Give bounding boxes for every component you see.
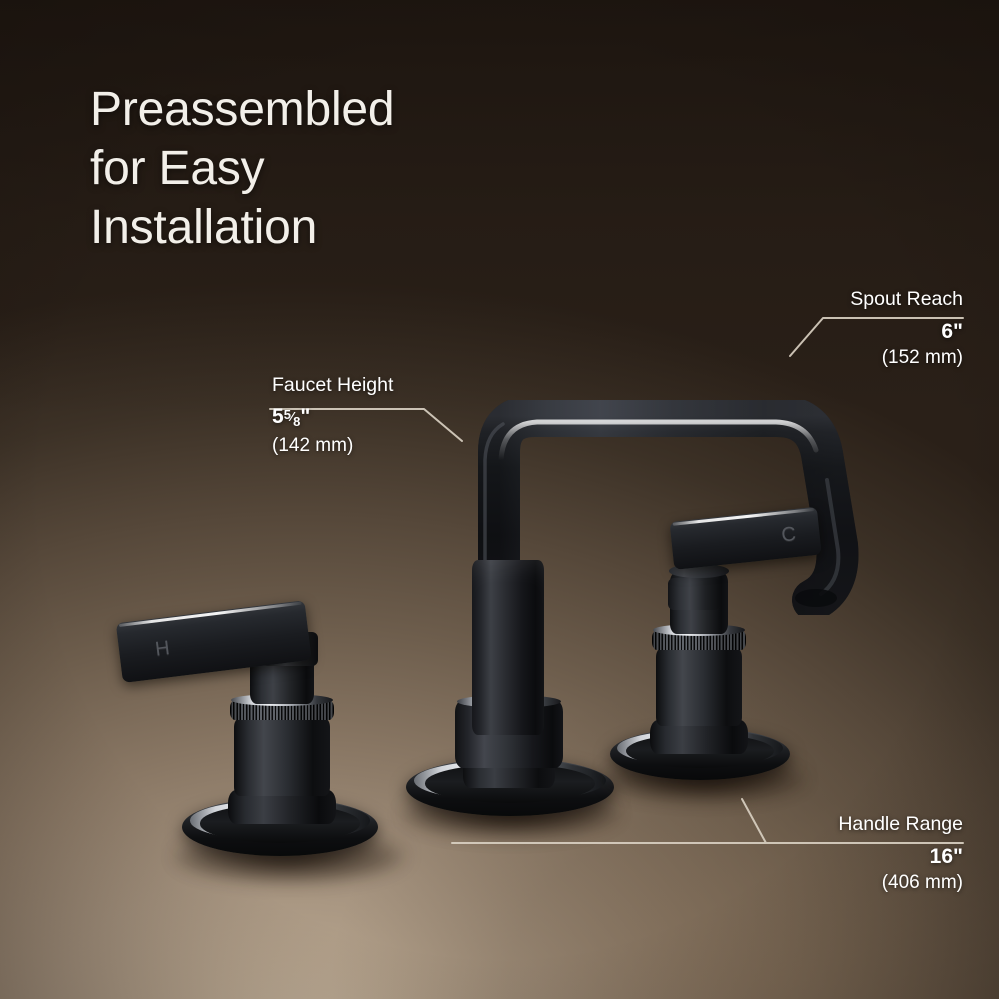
left-valve-tube bbox=[234, 718, 329, 796]
callout-handle-range-value: 16" bbox=[733, 844, 963, 869]
faucet-height-unit: " bbox=[300, 405, 310, 428]
callout-handle-range: Handle Range 16" (406 mm) bbox=[733, 813, 963, 895]
cold-indicator-label: C bbox=[780, 524, 796, 545]
faucet-height-denominator: 8 bbox=[293, 414, 300, 429]
callout-faucet-height: Faucet Height 55⁄8" (142 mm) bbox=[272, 374, 393, 458]
callout-spout-reach-label: Spout Reach bbox=[743, 288, 963, 311]
callout-faucet-height-value: 55⁄8" bbox=[272, 404, 393, 431]
callout-spout-reach-metric: (152 mm) bbox=[743, 346, 963, 370]
right-handle-hub bbox=[668, 578, 720, 610]
callout-spout-reach: Spout Reach 6" (152 mm) bbox=[743, 288, 963, 370]
spout-column bbox=[472, 560, 544, 735]
callout-handle-range-label: Handle Range bbox=[733, 813, 963, 836]
faucet-height-numerator: 5 bbox=[284, 407, 291, 422]
hot-indicator-label: H bbox=[154, 638, 171, 660]
callout-faucet-height-metric: (142 mm) bbox=[272, 434, 393, 458]
callout-faucet-height-label: Faucet Height bbox=[272, 374, 393, 397]
callout-handle-range-metric: (406 mm) bbox=[733, 871, 963, 895]
faucet-height-whole: 5 bbox=[272, 405, 284, 428]
faucet-height-fraction: 5⁄8 bbox=[284, 402, 301, 427]
product-image-scene: Preassembled for Easy Installation bbox=[0, 0, 999, 999]
callout-spout-reach-value: 6" bbox=[743, 319, 963, 344]
right-valve-tube bbox=[656, 648, 742, 726]
